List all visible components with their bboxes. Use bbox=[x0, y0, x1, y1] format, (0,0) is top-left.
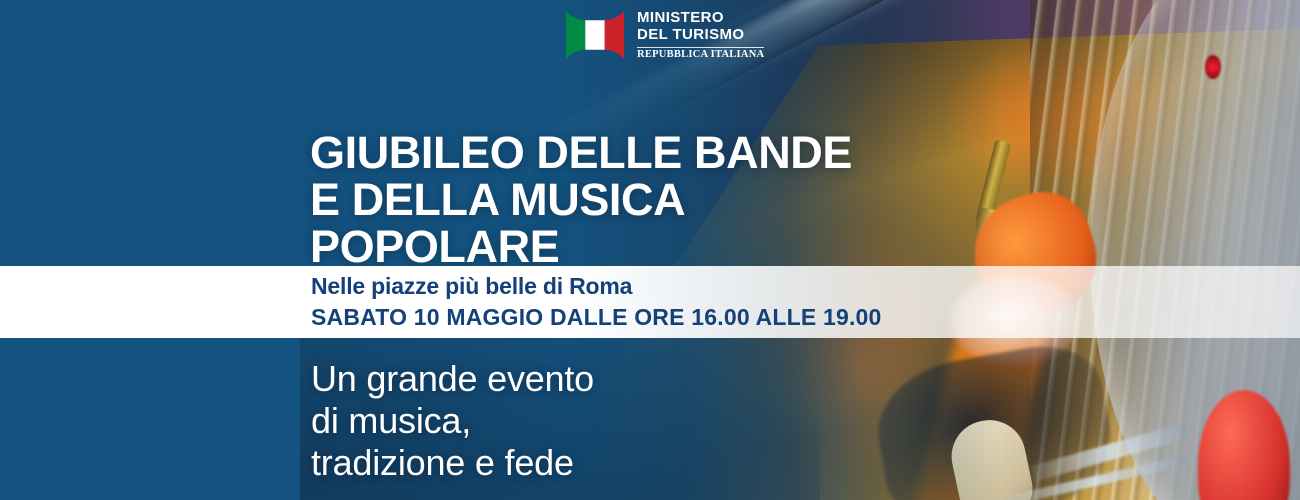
ministry-name-line2: DEL TURISMO bbox=[637, 27, 764, 44]
ministry-republic-label: REPUBBLICA ITALIANA bbox=[637, 50, 764, 61]
tagline-line-3: tradizione e fede bbox=[311, 442, 574, 483]
ministry-logo-text: MINISTERO DEL TURISMO REPUBBLICA ITALIAN… bbox=[637, 10, 764, 60]
tagline-line-2: di musica, bbox=[311, 400, 471, 441]
ministry-logo[interactable]: MINISTERO DEL TURISMO REPUBBLICA ITALIAN… bbox=[566, 10, 764, 60]
tagline-line-1: Un grande evento bbox=[311, 358, 594, 399]
headline-line-3: POPOLARE bbox=[310, 221, 559, 272]
event-banner: MINISTERO DEL TURISMO REPUBBLICA ITALIAN… bbox=[0, 0, 1300, 500]
event-location-line: Nelle piazze più belle di Roma bbox=[311, 271, 882, 301]
headline-line-1: GIUBILEO DELLE BANDE bbox=[310, 127, 852, 178]
info-band-content: Nelle piazze più belle di Roma SABATO 10… bbox=[311, 271, 882, 333]
event-datetime: SABATO 10 MAGGIO DALLE ORE 16.00 ALLE 19… bbox=[311, 301, 882, 333]
headline-line-2: E DELLA MUSICA bbox=[310, 174, 685, 225]
ministry-name-line1: MINISTERO bbox=[637, 10, 764, 27]
event-headline: GIUBILEO DELLE BANDE E DELLA MUSICA POPO… bbox=[310, 129, 852, 270]
event-city: Roma bbox=[569, 273, 632, 299]
italian-flag-icon bbox=[566, 11, 624, 59]
event-location-prefix: Nelle piazze più belle di bbox=[311, 273, 569, 299]
event-tagline: Un grande evento di musica, tradizione e… bbox=[311, 358, 594, 484]
photo-red-glint bbox=[1205, 55, 1221, 79]
logo-divider bbox=[637, 47, 764, 48]
